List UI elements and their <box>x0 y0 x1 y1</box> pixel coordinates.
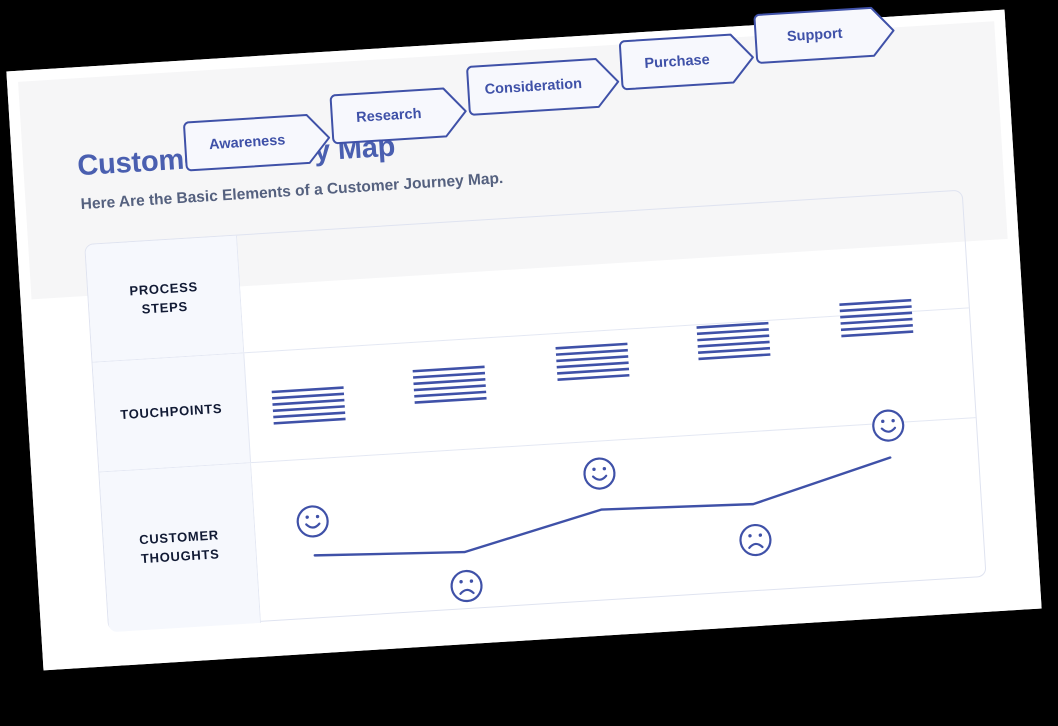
lines-stack-icon <box>411 360 488 408</box>
card-stage: Customer Journey Map Here Are the Basic … <box>0 0 1058 726</box>
process-step-label: Research <box>329 87 448 144</box>
row-label-process-steps: PROCESSSTEPS <box>85 236 244 362</box>
face-outline <box>297 506 329 538</box>
face-outline <box>451 570 483 602</box>
process-step-label: Purchase <box>619 34 736 91</box>
process-step-label: Awareness <box>183 114 312 172</box>
row-label-customer-thoughts: CUSTOMERTHOUGHTS <box>99 463 261 632</box>
process-step-label: Support <box>753 7 876 64</box>
touchpoint-awareness[interactable] <box>270 381 347 433</box>
process-step-label: Consideration <box>466 58 601 116</box>
smiley-happy-icon[interactable] <box>872 410 904 442</box>
lines-stack-icon <box>838 294 915 342</box>
face-outline <box>584 458 616 490</box>
touchpoint-consideration[interactable] <box>554 338 631 390</box>
face-outline <box>740 524 772 556</box>
smiley-sad-icon[interactable] <box>740 524 772 556</box>
face-outline <box>872 410 904 442</box>
touchpoint-purchase[interactable] <box>695 317 772 369</box>
lines-stack-icon <box>695 317 772 365</box>
touchpoint-support[interactable] <box>838 294 915 346</box>
smiley-happy-icon[interactable] <box>584 458 616 490</box>
process-step-purchase[interactable]: Purchase <box>619 32 756 90</box>
process-step-research[interactable]: Research <box>329 86 468 144</box>
journey-map-card: Customer Journey Map Here Are the Basic … <box>6 10 1041 671</box>
journey-map-table: PROCESSSTEPS TOUCHPOINTS CUSTOMERTHOUGHT… <box>84 190 986 632</box>
smiley-sad-icon[interactable] <box>451 570 483 602</box>
process-step-consideration[interactable]: Consideration <box>466 57 621 116</box>
touchpoint-research[interactable] <box>411 360 488 412</box>
lines-stack-icon <box>554 338 631 386</box>
lines-stack-icon <box>270 381 347 429</box>
row-label-touchpoints: TOUCHPOINTS <box>93 353 251 471</box>
process-step-support[interactable]: Support <box>753 6 896 65</box>
process-step-awareness[interactable]: Awareness <box>183 113 332 172</box>
smiley-happy-icon[interactable] <box>297 506 329 538</box>
